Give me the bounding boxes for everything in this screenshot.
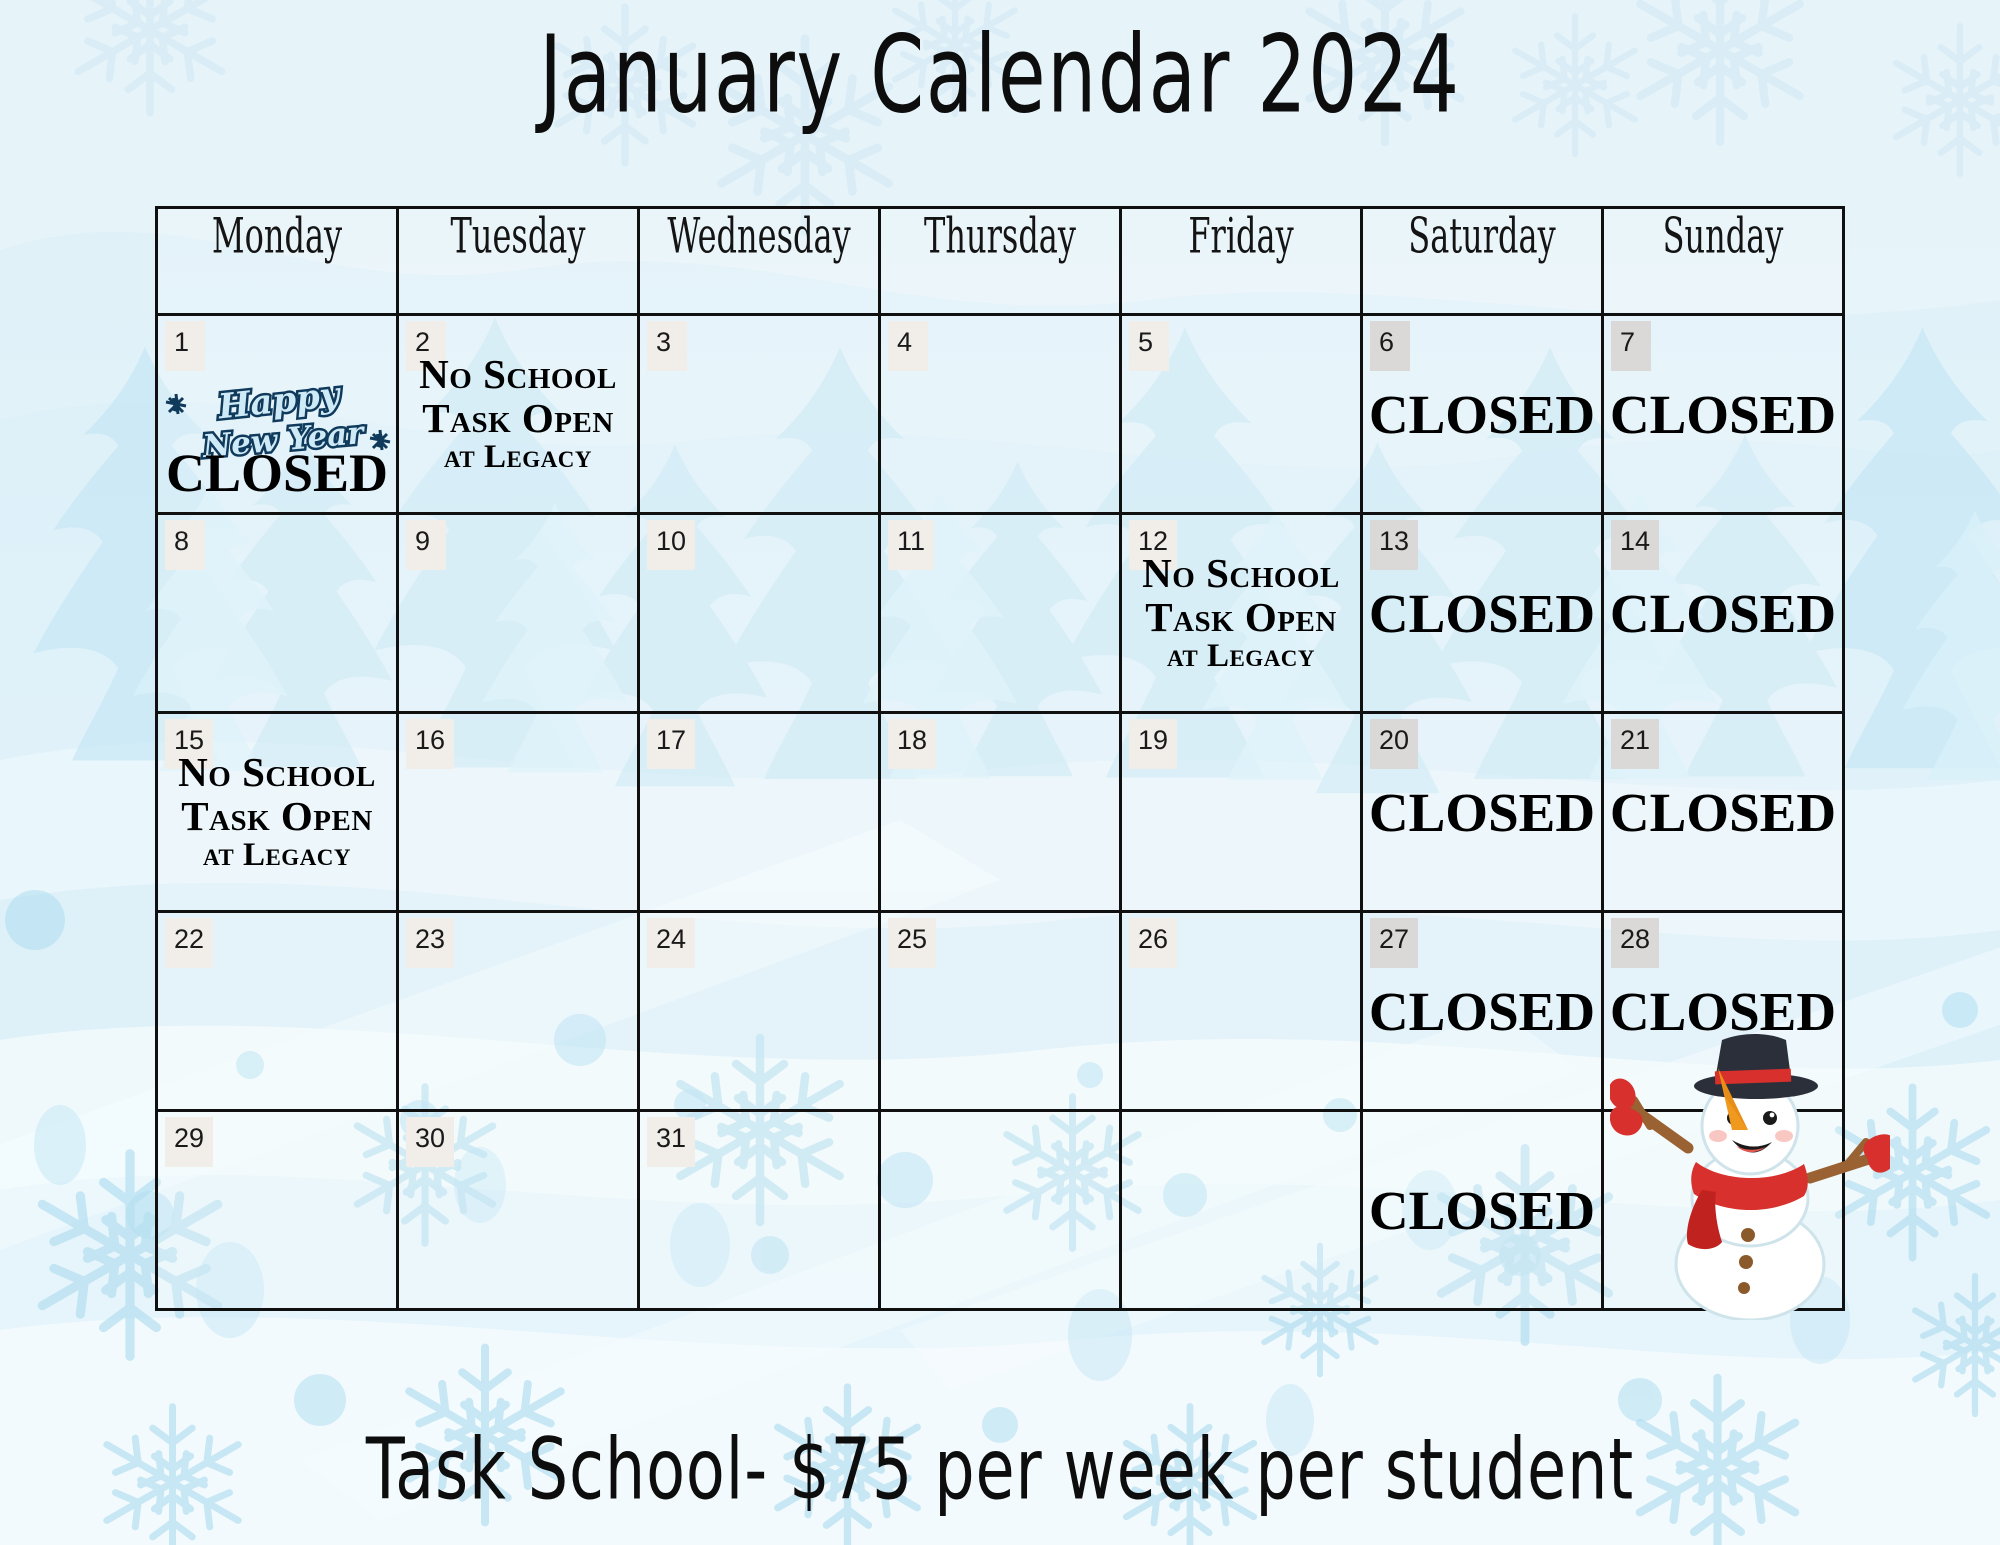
date-number: 7 bbox=[1611, 321, 1651, 371]
calendar-week-row: 1HappyNew YearCLOSED2No SchoolTask Opena… bbox=[157, 315, 1844, 514]
date-number: 20 bbox=[1370, 719, 1418, 769]
calendar-week-row: 293031CLOSED bbox=[157, 1111, 1844, 1310]
date-number: 6 bbox=[1370, 321, 1410, 371]
calendar-day-cell[interactable]: 5 bbox=[1121, 315, 1362, 514]
calendar-day-cell[interactable]: 18 bbox=[880, 713, 1121, 912]
calendar-day-cell[interactable]: 29 bbox=[157, 1111, 398, 1310]
calendar-day-cell[interactable]: 11 bbox=[880, 514, 1121, 713]
calendar-day-cell[interactable]: 31 bbox=[639, 1111, 880, 1310]
date-number: 24 bbox=[647, 918, 695, 968]
date-number: 16 bbox=[406, 719, 454, 769]
date-number: 9 bbox=[406, 520, 446, 570]
calendar-day-cell[interactable]: 10 bbox=[639, 514, 880, 713]
calendar-day-cell[interactable]: 6CLOSED bbox=[1362, 315, 1603, 514]
no-school-note-line: Task Open bbox=[158, 794, 396, 838]
calendar-day-cell[interactable]: 30 bbox=[398, 1111, 639, 1310]
calendar-week-row: 89101112No SchoolTask Openat Legacy13CLO… bbox=[157, 514, 1844, 713]
date-number: 23 bbox=[406, 918, 454, 968]
date-number: 13 bbox=[1370, 520, 1418, 570]
date-number: 1 bbox=[165, 321, 205, 371]
calendar-header-row: Monday Tuesday Wednesday Thursday Friday… bbox=[157, 208, 1844, 315]
date-number: 31 bbox=[647, 1117, 695, 1167]
closed-label: CLOSED bbox=[1363, 383, 1601, 446]
calendar-day-cell[interactable]: 13CLOSED bbox=[1362, 514, 1603, 713]
closed-label: CLOSED bbox=[1604, 980, 1842, 1043]
date-number: 26 bbox=[1129, 918, 1177, 968]
calendar-day-cell[interactable]: 27CLOSED bbox=[1362, 912, 1603, 1111]
day-header-label: Wednesday bbox=[664, 204, 854, 265]
page-title: January Calendar 2024 bbox=[160, 22, 1840, 129]
date-number: 15 bbox=[165, 719, 213, 769]
day-header-monday: Monday bbox=[157, 208, 398, 315]
closed-label: CLOSED bbox=[1604, 383, 1842, 446]
day-header-label: Friday bbox=[1146, 204, 1336, 265]
day-header-tuesday: Tuesday bbox=[398, 208, 639, 315]
closed-label: CLOSED bbox=[1604, 582, 1842, 645]
date-number: 17 bbox=[647, 719, 695, 769]
no-school-note-line: Task Open bbox=[1122, 595, 1360, 639]
day-header-label: Sunday bbox=[1628, 204, 1818, 265]
date-number: 18 bbox=[888, 719, 936, 769]
day-header-label: Monday bbox=[182, 204, 372, 265]
calendar-day-cell[interactable]: CLOSED bbox=[1362, 1111, 1603, 1310]
closed-label: CLOSED bbox=[1363, 582, 1601, 645]
date-number: 8 bbox=[165, 520, 205, 570]
date-number: 19 bbox=[1129, 719, 1177, 769]
date-number: 28 bbox=[1611, 918, 1659, 968]
calendar-day-cell[interactable]: 12No SchoolTask Openat Legacy bbox=[1121, 514, 1362, 713]
calendar-day-cell[interactable]: 25 bbox=[880, 912, 1121, 1111]
day-header-label: Tuesday bbox=[423, 204, 613, 265]
calendar-day-cell[interactable]: 26 bbox=[1121, 912, 1362, 1111]
closed-label: CLOSED bbox=[1363, 1179, 1601, 1242]
date-number: 30 bbox=[406, 1117, 454, 1167]
day-header-thursday: Thursday bbox=[880, 208, 1121, 315]
day-header-saturday: Saturday bbox=[1362, 208, 1603, 315]
date-number: 10 bbox=[647, 520, 695, 570]
calendar-day-cell[interactable]: 22 bbox=[157, 912, 398, 1111]
date-number: 21 bbox=[1611, 719, 1659, 769]
closed-label: CLOSED bbox=[1363, 781, 1601, 844]
no-school-note-line: at Legacy bbox=[1122, 639, 1360, 675]
day-header-friday: Friday bbox=[1121, 208, 1362, 315]
calendar-day-cell[interactable]: 17 bbox=[639, 713, 880, 912]
date-number: 11 bbox=[888, 520, 934, 570]
calendar-week-row: 15No SchoolTask Openat Legacy1617181920C… bbox=[157, 713, 1844, 912]
closed-label: CLOSED bbox=[1363, 980, 1601, 1043]
date-number: 2 bbox=[406, 321, 446, 371]
calendar-day-cell[interactable]: 15No SchoolTask Openat Legacy bbox=[157, 713, 398, 912]
date-number: 4 bbox=[888, 321, 928, 371]
date-number: 25 bbox=[888, 918, 936, 968]
calendar-day-cell[interactable]: 7CLOSED bbox=[1603, 315, 1844, 514]
calendar-day-cell[interactable] bbox=[880, 1111, 1121, 1310]
calendar-day-cell[interactable]: 3 bbox=[639, 315, 880, 514]
date-number: 29 bbox=[165, 1117, 213, 1167]
date-number: 14 bbox=[1611, 520, 1659, 570]
calendar-day-cell[interactable]: 19 bbox=[1121, 713, 1362, 912]
date-number: 22 bbox=[165, 918, 213, 968]
date-number: 5 bbox=[1129, 321, 1169, 371]
day-header-sunday: Sunday bbox=[1603, 208, 1844, 315]
date-number: 3 bbox=[647, 321, 687, 371]
no-school-note-line: at Legacy bbox=[158, 838, 396, 874]
calendar-day-cell[interactable] bbox=[1121, 1111, 1362, 1310]
calendar-grid: Monday Tuesday Wednesday Thursday Friday… bbox=[155, 206, 1845, 1311]
day-header-label: Saturday bbox=[1387, 204, 1577, 265]
calendar-day-cell[interactable]: 20CLOSED bbox=[1362, 713, 1603, 912]
calendar-day-cell[interactable]: 16 bbox=[398, 713, 639, 912]
day-header-wednesday: Wednesday bbox=[639, 208, 880, 315]
calendar-day-cell[interactable]: 14CLOSED bbox=[1603, 514, 1844, 713]
no-school-note-line: at Legacy bbox=[399, 440, 637, 476]
calendar-week-row: 222324252627CLOSED28CLOSED bbox=[157, 912, 1844, 1111]
calendar-day-cell[interactable]: 28CLOSED bbox=[1603, 912, 1844, 1111]
calendar-day-cell[interactable]: 8 bbox=[157, 514, 398, 713]
calendar-day-cell[interactable]: 2No SchoolTask Openat Legacy bbox=[398, 315, 639, 514]
date-number: 27 bbox=[1370, 918, 1418, 968]
calendar-day-cell[interactable]: 1HappyNew YearCLOSED bbox=[157, 315, 398, 514]
calendar-day-cell[interactable] bbox=[1603, 1111, 1844, 1310]
calendar-day-cell[interactable]: 9 bbox=[398, 514, 639, 713]
calendar-day-cell[interactable]: 23 bbox=[398, 912, 639, 1111]
day-header-label: Thursday bbox=[905, 204, 1095, 265]
date-number: 12 bbox=[1129, 520, 1177, 570]
closed-label: CLOSED bbox=[158, 442, 396, 504]
no-school-note-line: Task Open bbox=[399, 396, 637, 440]
calendar-day-cell[interactable]: 24 bbox=[639, 912, 880, 1111]
closed-label: CLOSED bbox=[1604, 781, 1842, 844]
calendar-day-cell[interactable]: 21CLOSED bbox=[1603, 713, 1844, 912]
tagline: Task School- $75 per week per student bbox=[140, 1421, 1860, 1519]
calendar-day-cell[interactable]: 4 bbox=[880, 315, 1121, 514]
